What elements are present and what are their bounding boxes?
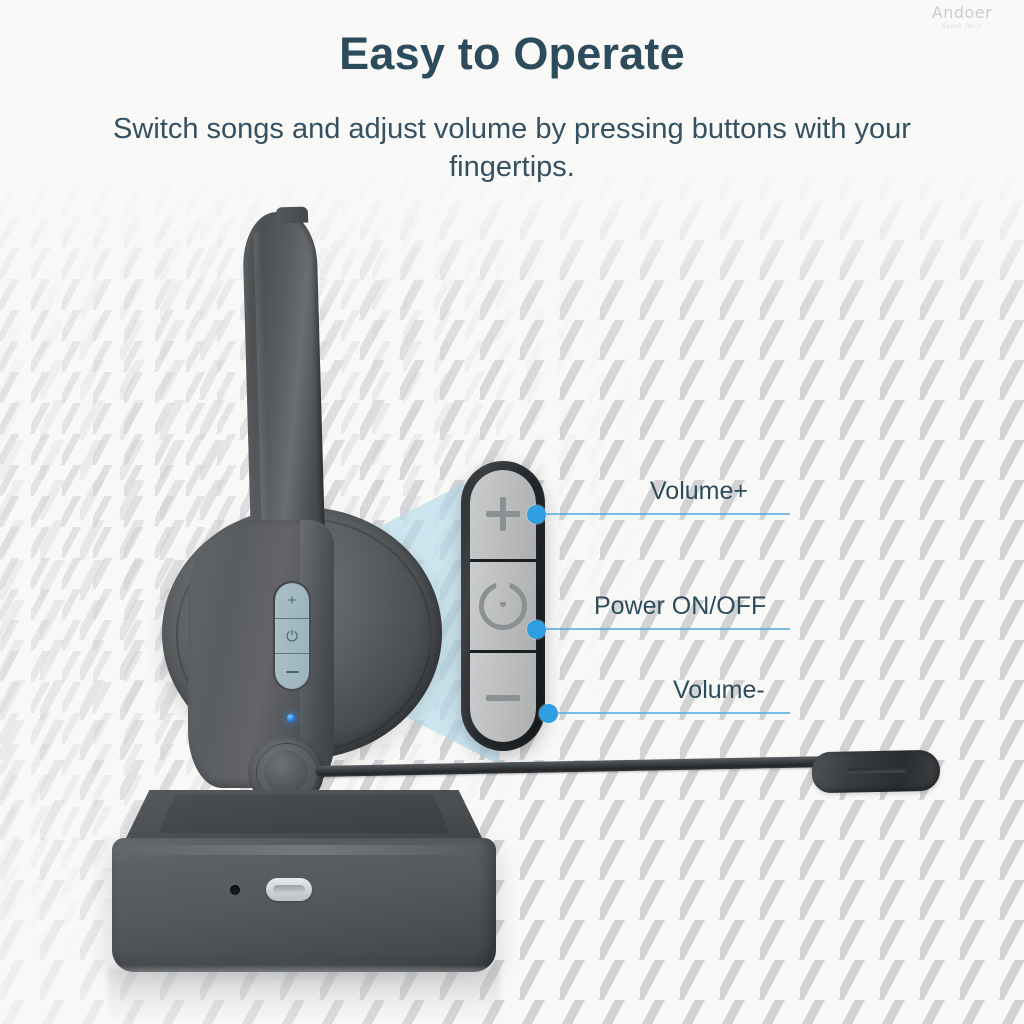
callout-dot-volume-up bbox=[527, 505, 546, 524]
minus-icon bbox=[286, 671, 299, 673]
callout-label-volume-up: Volume+ bbox=[650, 477, 748, 506]
button-panel-magnified-keys bbox=[470, 470, 536, 742]
microphone-boom-arm bbox=[316, 756, 836, 777]
minus-icon bbox=[486, 695, 520, 701]
plus-icon bbox=[486, 497, 520, 531]
volume-down-button[interactable] bbox=[470, 653, 536, 742]
floor-reflection bbox=[108, 968, 500, 1024]
callout-line-volume-up bbox=[540, 513, 790, 515]
callout-dot-volume-down bbox=[539, 704, 558, 723]
callout-label-power: Power ON/OFF bbox=[594, 592, 766, 621]
product-marketing-image: Andoer Speak for it Easy to Operate Swit… bbox=[0, 0, 1024, 1024]
callout-label-volume-down: Volume- bbox=[673, 676, 765, 705]
onear-button-cluster-keys: + ⏻ bbox=[275, 583, 309, 689]
dock-highlight bbox=[124, 845, 484, 855]
onear-volume-up-button[interactable]: + bbox=[275, 583, 309, 619]
callout-dot-power bbox=[527, 620, 546, 639]
power-button[interactable] bbox=[470, 562, 536, 654]
callout-line-volume-down bbox=[552, 712, 790, 714]
callout-line-power bbox=[540, 628, 790, 630]
onear-power-button[interactable]: ⏻ bbox=[275, 619, 309, 655]
dock-top-inset bbox=[158, 795, 450, 833]
power-icon bbox=[479, 582, 527, 630]
boom-pivot-inner bbox=[264, 750, 308, 794]
charging-dock-base bbox=[112, 838, 496, 972]
usb-c-port-inner bbox=[273, 885, 305, 894]
onear-volume-down-button[interactable] bbox=[275, 654, 309, 689]
blue-led-indicator bbox=[287, 714, 295, 722]
headband-top-tab bbox=[276, 207, 308, 224]
usb-c-charging-port bbox=[266, 878, 312, 901]
dock-led-hole bbox=[230, 885, 240, 895]
power-icon-bar bbox=[500, 585, 506, 607]
